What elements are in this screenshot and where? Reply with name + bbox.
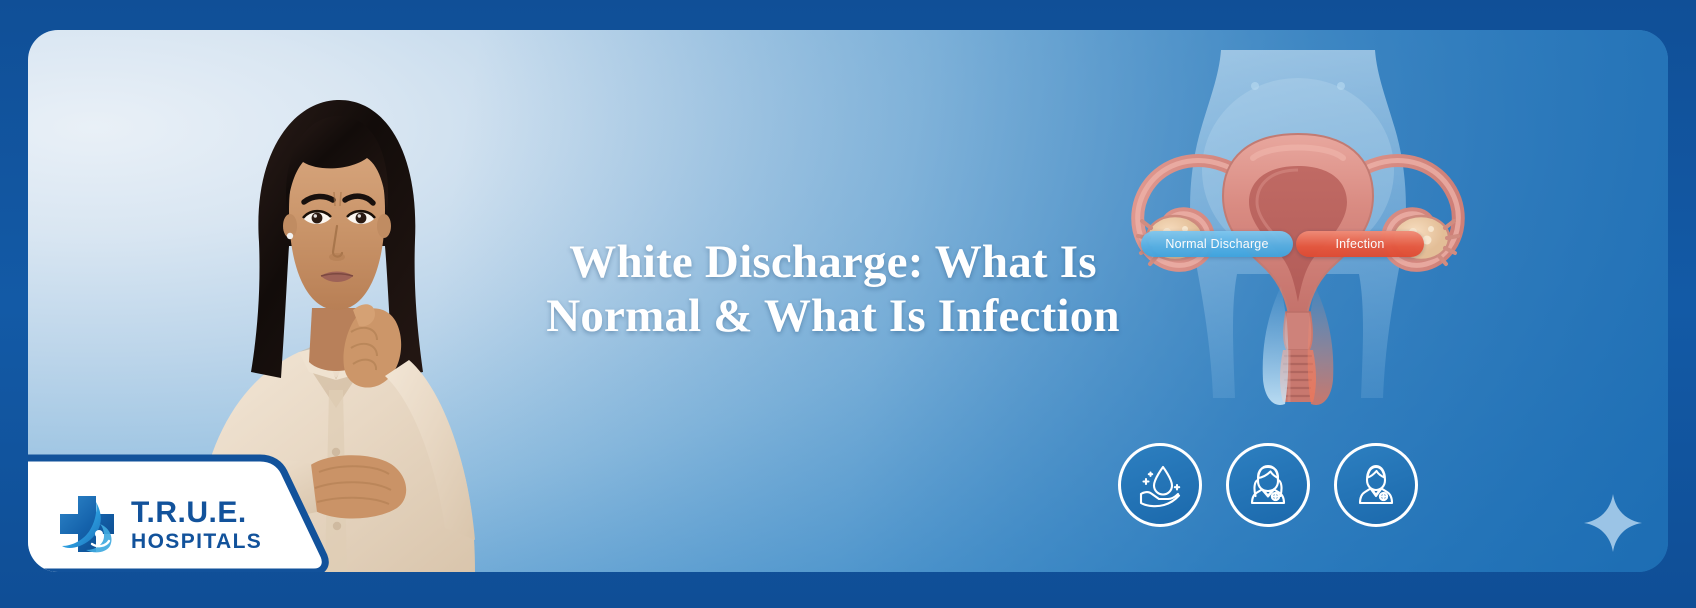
feature-icon-row <box>1118 443 1418 527</box>
logo-subtitle: HOSPITALS <box>131 531 262 552</box>
four-point-star-sparkle-icon <box>1584 494 1642 552</box>
hand-water-drop-hygiene-icon[interactable] <box>1118 443 1202 527</box>
label-normal-discharge-text: Normal Discharge <box>1165 237 1268 251</box>
banner-panel: Normal Discharge Infection White Dischar… <box>28 30 1668 572</box>
male-doctor-icon[interactable] <box>1334 443 1418 527</box>
logo-text: T.R.U.E. HOSPITALS <box>131 498 262 552</box>
label-normal-discharge: Normal Discharge <box>1141 231 1293 257</box>
title-line-2: Normal & What Is Infection <box>523 289 1143 343</box>
logo-content[interactable]: T.R.U.E. HOSPITALS <box>56 494 262 556</box>
banner-root: Normal Discharge Infection White Dischar… <box>0 0 1696 608</box>
label-infection: Infection <box>1296 231 1424 257</box>
medical-cross-logo-icon <box>56 494 118 556</box>
female-doctor-icon[interactable] <box>1226 443 1310 527</box>
label-infection-text: Infection <box>1335 237 1384 251</box>
logo-name: T.R.U.E. <box>131 498 262 528</box>
page-title: White Discharge: What Is Normal & What I… <box>523 235 1143 343</box>
title-line-1: White Discharge: What Is <box>523 235 1143 289</box>
